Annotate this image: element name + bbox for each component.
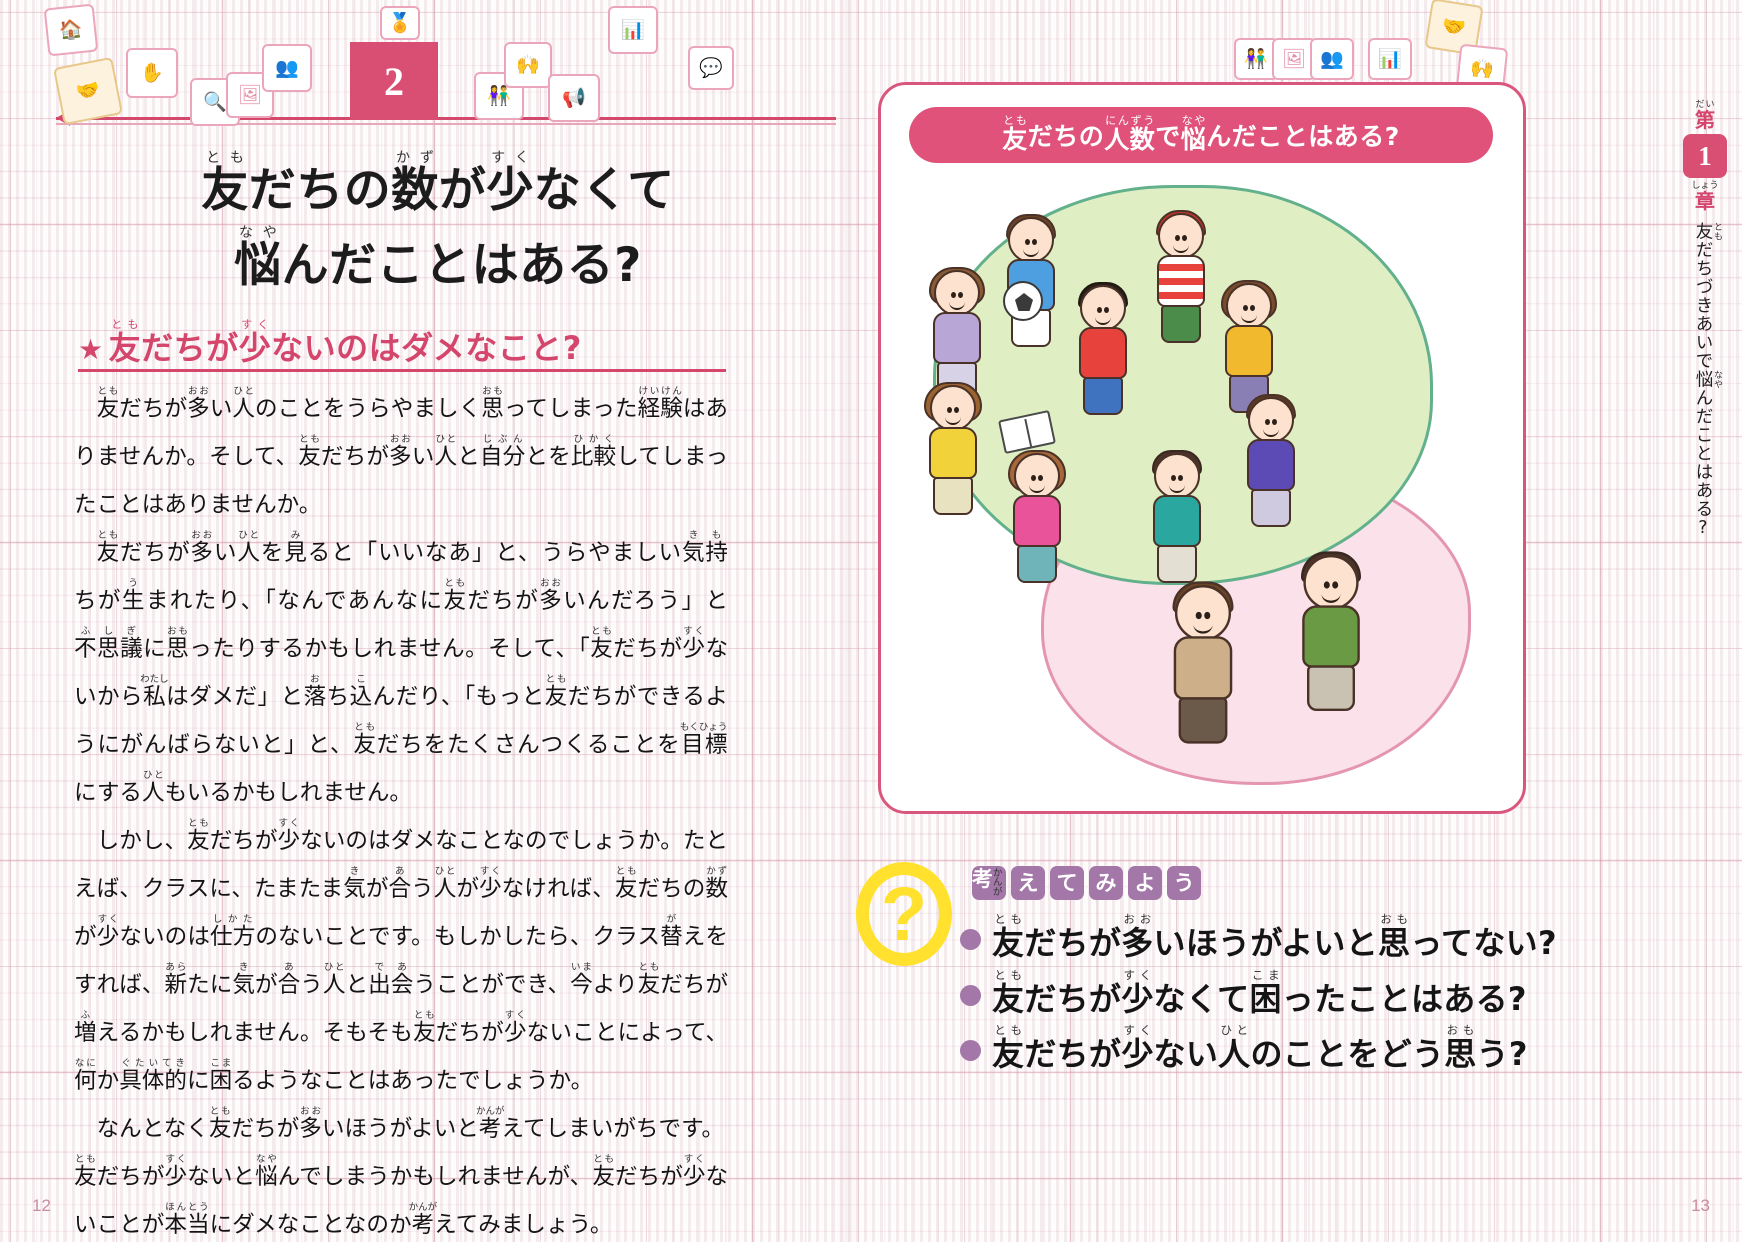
bullet-icon: [960, 929, 981, 950]
chapter-number-badge: 2: [350, 42, 438, 120]
right-page: 👫 🖼 👥 📊 🤝 🙌 友ともだちの人にん数ずうで悩なやんだことはある?: [848, 0, 1742, 1242]
list-item: 友ともだちが多おおいほうがよいと思おもってない?: [960, 912, 1730, 968]
section-heading: ★ 友ともだちが少すくないのはダメなこと?: [78, 318, 738, 369]
panel-title: 友ともだちの人にん数ずうで悩なやんだことはある?: [909, 107, 1493, 163]
house-icon: 🏠: [44, 4, 99, 57]
people-group-icon: 👥: [1310, 38, 1354, 80]
paragraph-4: なんとなく友ともだちが多おおいほうがよいと考かんがえてしまいがちです。友ともだち…: [74, 1105, 728, 1242]
label-char-te: て: [1050, 866, 1084, 900]
badge-icon: 🏅: [380, 6, 420, 40]
label-char-e: え: [1011, 866, 1045, 900]
top-arrow-rule: [56, 117, 836, 120]
top-thin-rule: [56, 123, 836, 125]
soccer-ball-icon: [1003, 281, 1043, 321]
page-number-right: 13: [1691, 1196, 1710, 1216]
headline-line-2: 悩なやんだことはある?: [118, 225, 758, 300]
left-page: 🤝 🏠 ✋ 🔍 🖼 👥 🏅 👫 🙌 📢 📊 💬 2 友ともだちの数かずが少すくな…: [0, 0, 848, 1242]
presentation-icon: 📊: [608, 6, 658, 54]
star-icon: ★: [78, 336, 104, 364]
list-item: 友ともだちが少すくない人ひとのことをどう思おもう?: [960, 1023, 1730, 1079]
question-list: 友ともだちが多おおいほうがよいと思おもってない? 友ともだちが少すくなくて困こま…: [960, 912, 1730, 1079]
label-char-mi: み: [1089, 866, 1123, 900]
question-text: 友ともだちが少すくない人ひとのことをどう思おもう?: [992, 1023, 1528, 1079]
paragraph-2: 友ともだちが多おおい人ひとを見みると「いいなあ」と、うらやましい気持きもちが生う…: [74, 529, 728, 817]
page-title: 友ともだちの数かずが少すくなくて 悩なやんだことはある?: [118, 150, 758, 299]
bullet-icon: [960, 1040, 981, 1061]
side-tab-shou: 章しょう: [1691, 181, 1718, 212]
speech-bubble-icon: 💬: [688, 46, 734, 90]
question-mark-glyph: ?: [856, 862, 952, 966]
label-char-u: う: [1167, 866, 1201, 900]
question-text: 友ともだちが多おおいほうがよいと思おもってない?: [992, 912, 1557, 968]
section-divider: [78, 369, 726, 372]
bullet-icon: [960, 985, 981, 1006]
headline-line-1: 友ともだちの数かずが少すくなくて: [118, 150, 758, 225]
hand-wave-icon: ✋: [126, 48, 178, 98]
body-text-column: 友ともだちが多おおい人ひとのことをうらやましく思おもってしまった経験けいけんはあ…: [74, 385, 728, 1242]
presentation-icon: 📊: [1368, 38, 1412, 80]
cheer-icon: 🙌: [504, 42, 552, 88]
handshake-icon: 🤝: [53, 57, 123, 125]
section-heading-text: 友ともだちが少すくないのはダメなこと?: [109, 318, 582, 369]
paragraph-3: しかし、友ともだちが少すくないのはダメなことなのでしょうか。たとえば、クラスに、…: [74, 817, 728, 1105]
page-number-left: 12: [32, 1196, 51, 1216]
megaphone-icon: 📢: [548, 74, 600, 122]
book-spread: 🤝 🏠 ✋ 🔍 🖼 👥 🏅 👫 🙌 📢 📊 💬 2 友ともだちの数かずが少すくな…: [0, 0, 1742, 1242]
chapter-number: 2: [384, 58, 404, 105]
paragraph-1: 友ともだちが多おおい人ひとのことをうらやましく思おもってしまった経験けいけんはあ…: [74, 385, 728, 529]
illustration-card: 友ともだちの人にん数ずうで悩なやんだことはある?: [878, 82, 1526, 814]
chapter-side-tab: 第だい 1 章しょう 友ともだちづきあいで悩なやんだことはある?: [1682, 100, 1728, 552]
people-group-icon: 👥: [262, 44, 312, 92]
side-tab-number: 1: [1683, 134, 1727, 178]
label-char-yo: よ: [1128, 866, 1162, 900]
think-about-it-label: 考かんが え て み よ う: [972, 866, 1201, 900]
list-item: 友ともだちが少すくなくて困こまったことはある?: [960, 968, 1730, 1024]
label-char-kangae: 考かんが: [972, 866, 1006, 900]
question-text: 友ともだちが少すくなくて困こまったことはある?: [992, 968, 1527, 1024]
side-tab-title: 友ともだちづきあいで悩なやんだことはある?: [1688, 222, 1722, 552]
side-tab-dai: 第だい: [1695, 100, 1715, 131]
